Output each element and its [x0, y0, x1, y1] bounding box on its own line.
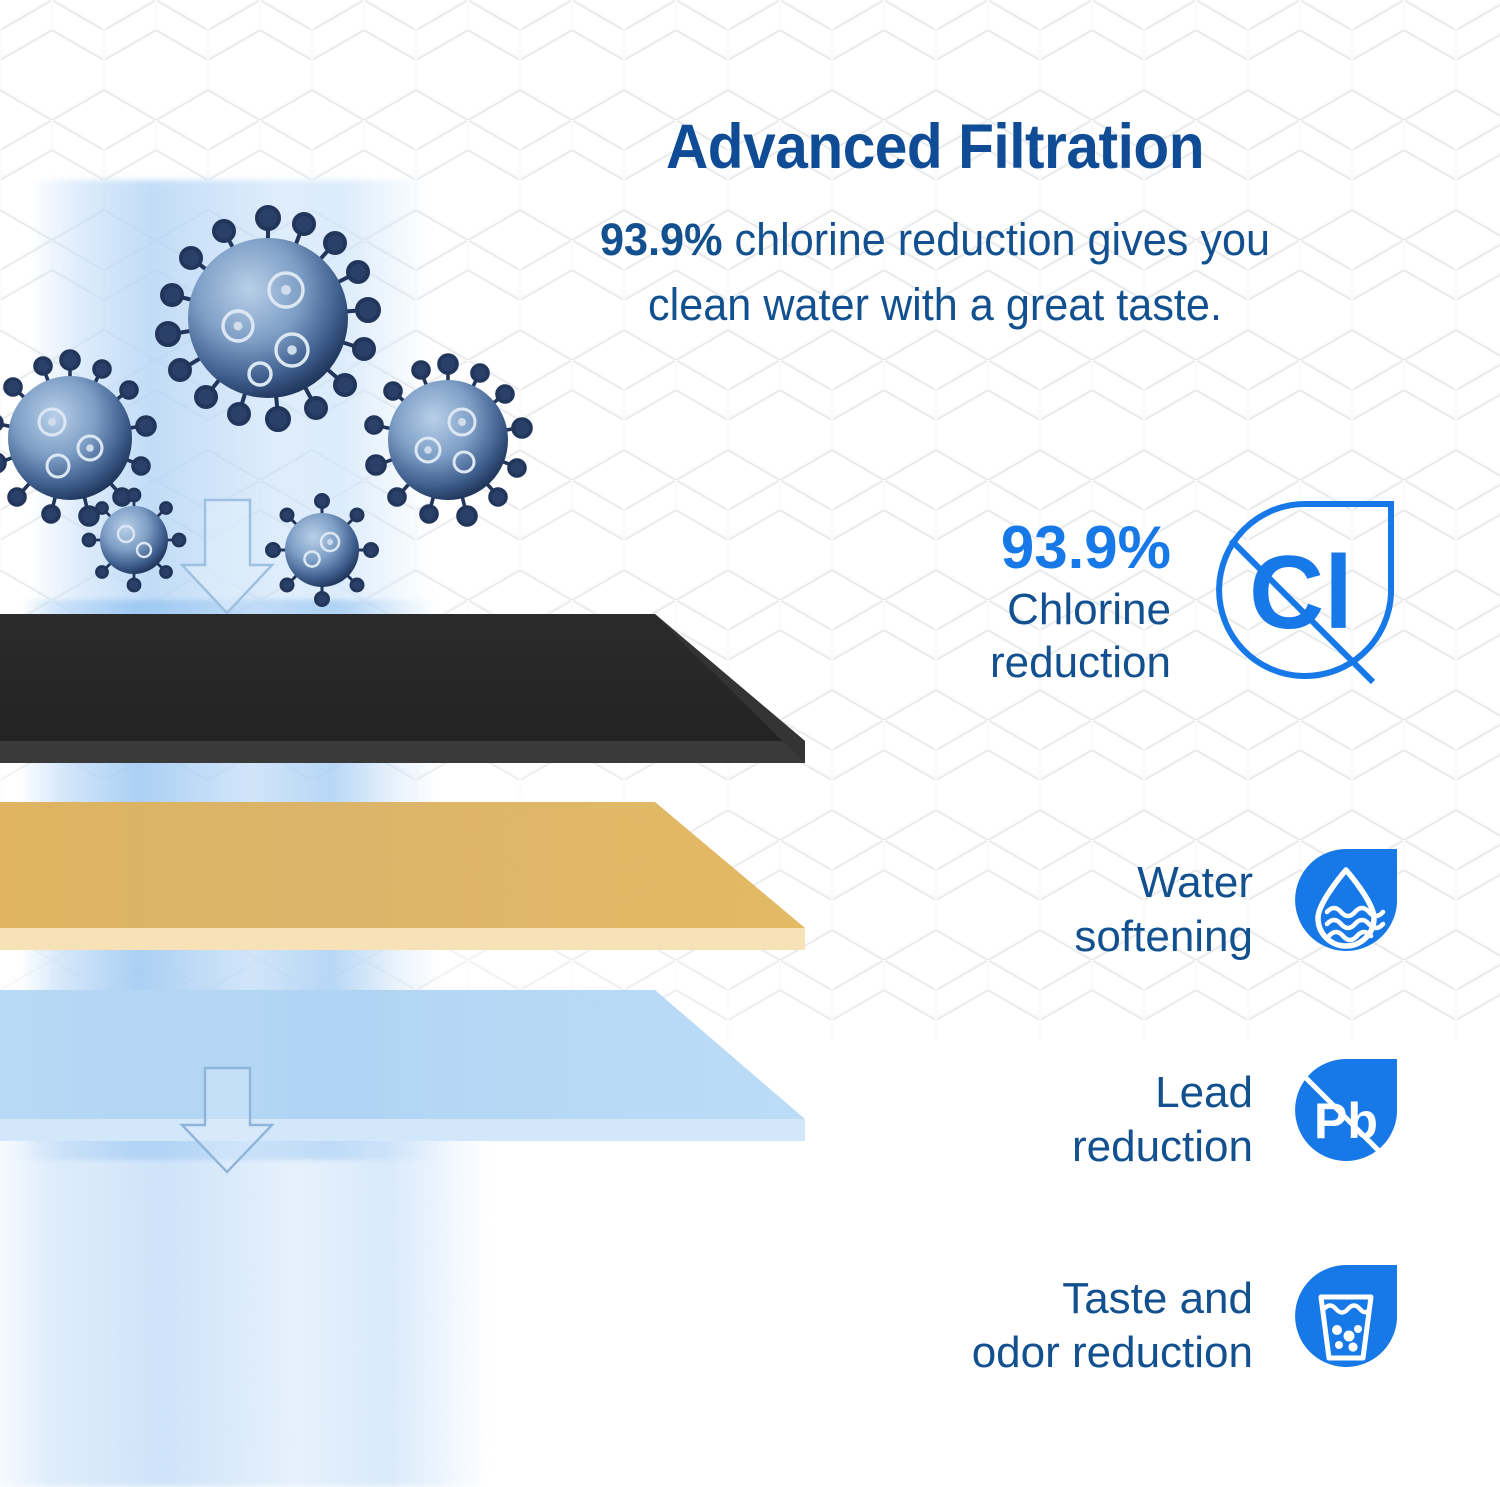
- chlorine-blocked-shield-icon: Cl: [1205, 498, 1405, 708]
- virus-particle-small-left: [83, 489, 185, 591]
- chlorine-symbol-text: Cl: [1249, 535, 1353, 651]
- chlorine-label-line2: reduction: [990, 638, 1171, 687]
- water-glass-shield-icon: [1287, 1262, 1405, 1389]
- subtitle-rest: chlorine reduction gives you: [722, 214, 1270, 265]
- water-softening-line1: Water: [1137, 858, 1253, 907]
- feature-row-water-softening: Water softening: [900, 846, 1405, 973]
- feature-label-lead-reduction: Lead reduction: [1072, 1066, 1287, 1173]
- lead-label-line1: Lead: [1155, 1068, 1253, 1117]
- header-block: Advanced Filtration 93.9% chlorine reduc…: [470, 112, 1400, 337]
- lead-blocked-shield-icon: Pb: [1287, 1056, 1405, 1183]
- filter-media-layer: [0, 990, 805, 1141]
- feature-row-lead-reduction: Lead reduction Pb: [900, 1056, 1405, 1183]
- lead-label-line2: reduction: [1072, 1122, 1253, 1171]
- feature-label-chlorine: 93.9% Chlorine reduction: [990, 516, 1205, 690]
- virus-particle-left: [0, 351, 155, 525]
- feature-label-taste-odor: Taste and odor reduction: [972, 1272, 1287, 1379]
- water-stream-upper: [30, 180, 430, 630]
- subtitle-percent: 93.9%: [600, 214, 723, 265]
- water-stream-lower: [0, 1130, 490, 1487]
- water-softening-line2: softening: [1074, 912, 1253, 961]
- feature-row-taste-odor: Taste and odor reduction: [840, 1262, 1405, 1389]
- flow-arrow-upper: [182, 500, 272, 613]
- resin-layer: [0, 802, 805, 950]
- virus-particle-small-right: [267, 495, 378, 606]
- carbon-block-layer: [0, 614, 805, 763]
- taste-label-line1: Taste and: [1062, 1274, 1253, 1323]
- virus-particle-large: [157, 207, 379, 430]
- taste-label-line2: odor reduction: [972, 1328, 1253, 1377]
- chlorine-label-line1: Chlorine: [1007, 585, 1171, 634]
- subtitle-line-1: 93.9% chlorine reduction gives you: [489, 207, 1382, 272]
- infographic-canvas: Advanced Filtration 93.9% chlorine reduc…: [0, 0, 1500, 1487]
- chlorine-percent-value: 93.9%: [990, 516, 1171, 581]
- flow-arrow-lower: [182, 1068, 272, 1172]
- feature-label-water-softening: Water softening: [1074, 856, 1287, 963]
- page-title: Advanced Filtration: [503, 112, 1368, 183]
- water-stream-middle: [20, 600, 440, 1160]
- virus-particle-right: [366, 355, 531, 525]
- feature-row-chlorine: 93.9% Chlorine reduction Cl: [860, 498, 1405, 708]
- subtitle-line-2: clean water with a great taste.: [489, 272, 1382, 337]
- water-droplet-shield-icon: [1287, 846, 1405, 973]
